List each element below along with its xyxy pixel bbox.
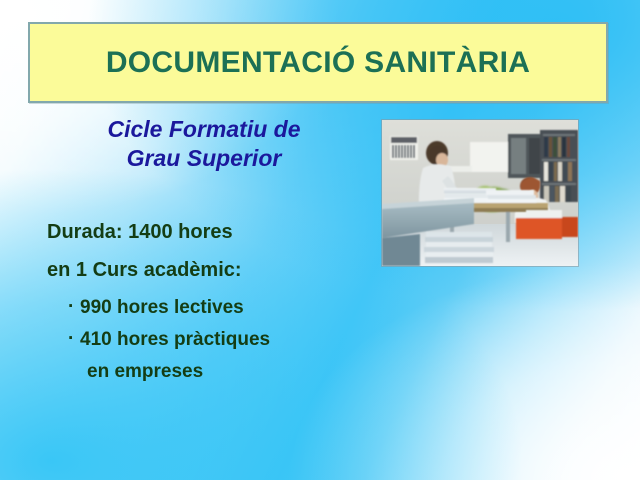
photo-office-archive (382, 120, 578, 266)
continuation-line: en empreses (30, 361, 375, 383)
list-item: · 990 hores lectives (30, 297, 375, 319)
slide-canvas: DOCUMENTACIÓ SANITÀRIA Cicle Formatiu de… (0, 0, 640, 480)
bullet-dot-icon: · (68, 328, 74, 350)
page-title: DOCUMENTACIÓ SANITÀRIA (106, 46, 530, 80)
subtitle-line-2: Grau Superior (44, 144, 364, 173)
list-item-label: 410 hores pràctiques (68, 329, 270, 350)
body-text-block: Durada: 1400 hores en 1 Curs acadèmic: ·… (30, 222, 375, 383)
course-line: en 1 Curs acadèmic: (30, 260, 375, 280)
list-item-label: 990 hores lectives (68, 297, 244, 318)
title-box: DOCUMENTACIÓ SANITÀRIA (28, 22, 608, 103)
list-item: · 410 hores pràctiques (30, 329, 375, 351)
subtitle-line-1: Cicle Formatiu de (44, 115, 364, 144)
bullet-dot-icon: · (68, 296, 74, 318)
subtitle: Cicle Formatiu de Grau Superior (44, 115, 364, 174)
duration-line: Durada: 1400 hores (30, 222, 375, 242)
photo-illustration (382, 120, 578, 266)
